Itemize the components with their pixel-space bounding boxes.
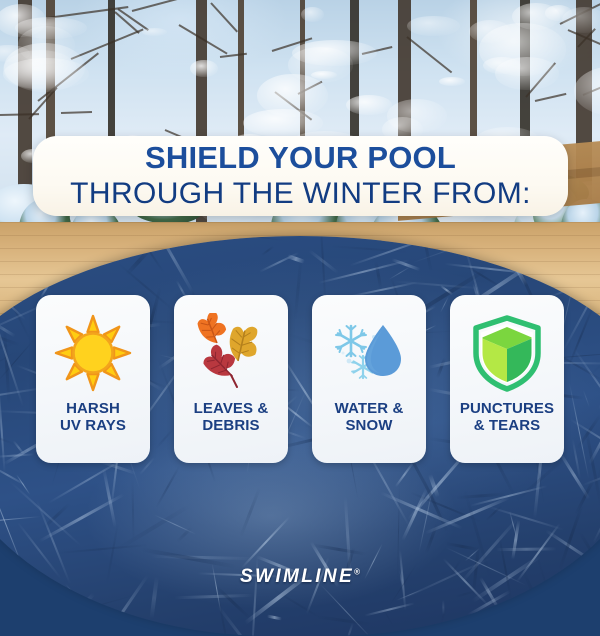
snow-patch <box>301 7 324 22</box>
feature-card-caption: HARSH UV RAYS <box>60 401 126 435</box>
tree-branch <box>406 36 452 73</box>
cover-crease <box>155 466 180 509</box>
snow-patch <box>346 95 393 115</box>
headline-line-1: SHIELD YOUR POOL <box>145 142 456 174</box>
tree-branch <box>132 0 178 12</box>
cover-crease <box>573 349 600 420</box>
cover-crease <box>239 487 260 537</box>
feature-card-harsh-uv-rays[interactable]: HARSH UV RAYS <box>36 295 150 463</box>
snow-patch <box>288 47 352 82</box>
headline-line-2: THROUGH THE WINTER FROM: <box>70 177 531 211</box>
feature-card-list: HARSH UV RAYS <box>36 295 564 463</box>
cover-crease <box>442 599 444 614</box>
caption-line-2: & TEARS <box>474 417 541 434</box>
cover-crease <box>401 488 428 541</box>
cover-crease <box>261 246 274 257</box>
snow-patch <box>469 20 512 43</box>
cover-crease <box>0 609 30 625</box>
cover-crease <box>266 614 281 619</box>
leaves-icon <box>189 311 273 395</box>
snow-patch <box>142 28 167 36</box>
cover-crease <box>142 625 162 636</box>
brand-name: SWIMLINE <box>240 566 354 587</box>
snow-patch <box>439 77 465 86</box>
cover-crease <box>132 480 135 542</box>
cover-crease <box>592 543 600 552</box>
snow-patch <box>495 57 558 90</box>
cover-crease <box>345 622 353 636</box>
cover-crease <box>0 388 5 473</box>
tree-branch <box>210 3 238 33</box>
headline-panel: SHIELD YOUR POOL THROUGH THE WINTER FROM… <box>33 136 568 216</box>
cover-crease <box>496 547 557 551</box>
cover-crease <box>388 265 411 279</box>
trademark-symbol: ® <box>354 568 360 577</box>
cover-crease <box>174 594 253 599</box>
cover-crease <box>317 615 370 625</box>
brand-logo: SWIMLINE® <box>0 566 600 588</box>
cover-crease <box>344 496 352 577</box>
snow-patch <box>387 99 447 132</box>
cover-crease <box>396 589 423 601</box>
shield-icon <box>465 311 549 395</box>
cover-crease <box>117 505 190 551</box>
caption-line-2: UV RAYS <box>60 417 126 434</box>
cover-crease <box>57 544 148 554</box>
snow-patch <box>512 3 560 30</box>
tree-branch <box>535 93 567 102</box>
feature-card-caption: PUNCTURES & TEARS <box>460 401 554 435</box>
feature-card-water-snow[interactable]: WATER & SNOW <box>312 295 426 463</box>
feature-card-leaves-debris[interactable]: LEAVES & DEBRIS <box>174 295 288 463</box>
caption-line-2: DEBRIS <box>202 417 259 434</box>
feature-card-caption: LEAVES & DEBRIS <box>194 401 269 435</box>
cover-crease <box>62 259 66 280</box>
snow-patch <box>190 60 217 77</box>
cover-crease <box>394 462 413 488</box>
cover-crease <box>319 236 326 304</box>
tree-branch <box>61 111 92 114</box>
caption-line-1: HARSH <box>66 400 120 417</box>
sun-icon <box>51 311 135 395</box>
cover-crease <box>319 584 372 636</box>
water-snow-icon <box>327 311 411 395</box>
caption-line-1: LEAVES & <box>194 400 269 417</box>
caption-line-1: PUNCTURES <box>460 400 554 417</box>
cover-crease <box>259 252 300 273</box>
feature-card-punctures-tears[interactable]: PUNCTURES & TEARS <box>450 295 564 463</box>
feature-card-caption: WATER & SNOW <box>335 401 404 435</box>
caption-line-2: SNOW <box>345 417 392 434</box>
snow-patch <box>407 16 459 37</box>
snow-patch <box>562 7 600 33</box>
cover-crease <box>0 631 31 636</box>
caption-line-1: WATER & <box>335 400 404 417</box>
